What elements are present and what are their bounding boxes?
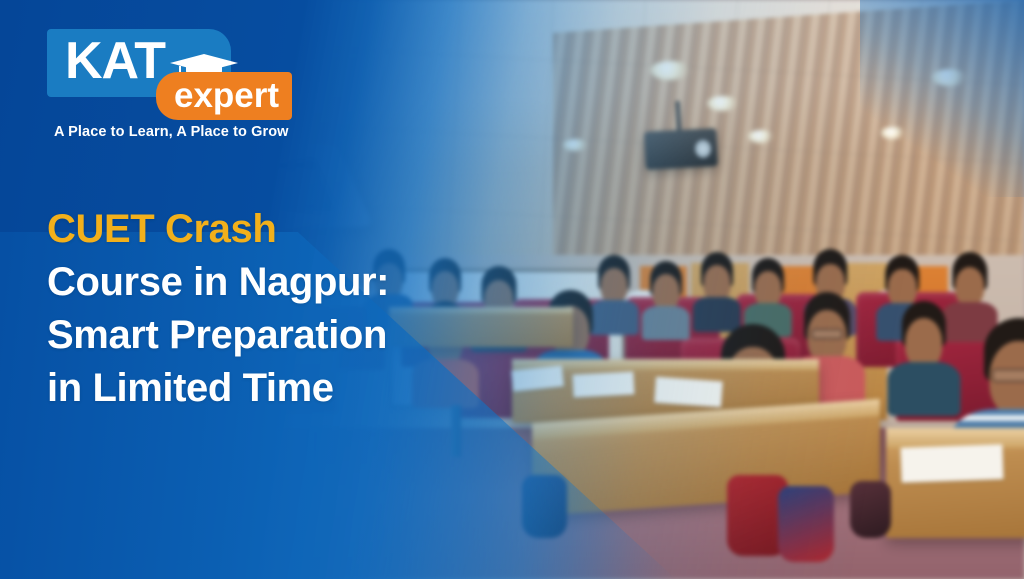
logo-primary-text: KAT	[65, 31, 165, 91]
brand-logo[interactable]: KAT expert A Place to Learn, A Place to …	[44, 26, 292, 144]
logo-secondary-text: expert	[174, 74, 279, 118]
headline-line-4: in Limited Time	[47, 362, 467, 415]
headline-line-2: Course in Nagpur:	[47, 256, 467, 309]
logo-tagline: A Place to Learn, A Place to Grow	[54, 124, 289, 140]
promo-banner: KAT expert A Place to Learn, A Place to …	[0, 0, 1024, 579]
headline-line-1: CUET Crash	[47, 203, 467, 256]
headline-line-3: Smart Preparation	[47, 309, 467, 362]
logo-secondary-plate: expert	[156, 72, 292, 120]
page-title: CUET Crash Course in Nagpur: Smart Prepa…	[47, 203, 467, 415]
blue-corner-shade	[860, 0, 1024, 197]
